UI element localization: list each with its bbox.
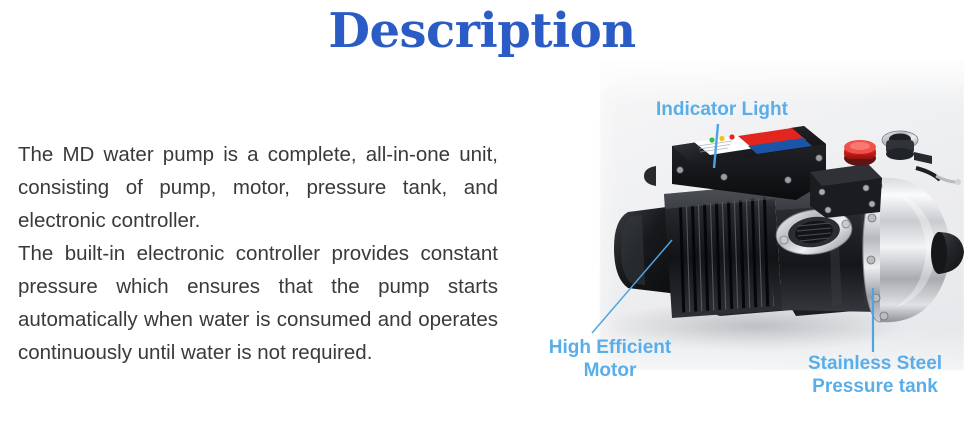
callout-tank-line-2: Pressure tank bbox=[786, 375, 964, 398]
leader-line-indicator-light bbox=[714, 124, 718, 168]
callout-indicator-light: Indicator Light bbox=[656, 98, 788, 121]
leader-line-motor bbox=[592, 240, 672, 333]
product-description-banner: Description The MD water pump is a compl… bbox=[0, 0, 964, 425]
callout-motor-line-1: High Efficient bbox=[534, 336, 686, 359]
callout-stainless-steel-pressure-tank: Stainless Steel Pressure tank bbox=[786, 352, 964, 398]
callout-motor-line-2: Motor bbox=[534, 359, 686, 382]
callout-tank-line-1: Stainless Steel bbox=[786, 352, 964, 375]
callout-high-efficient-motor: High Efficient Motor bbox=[534, 336, 686, 382]
